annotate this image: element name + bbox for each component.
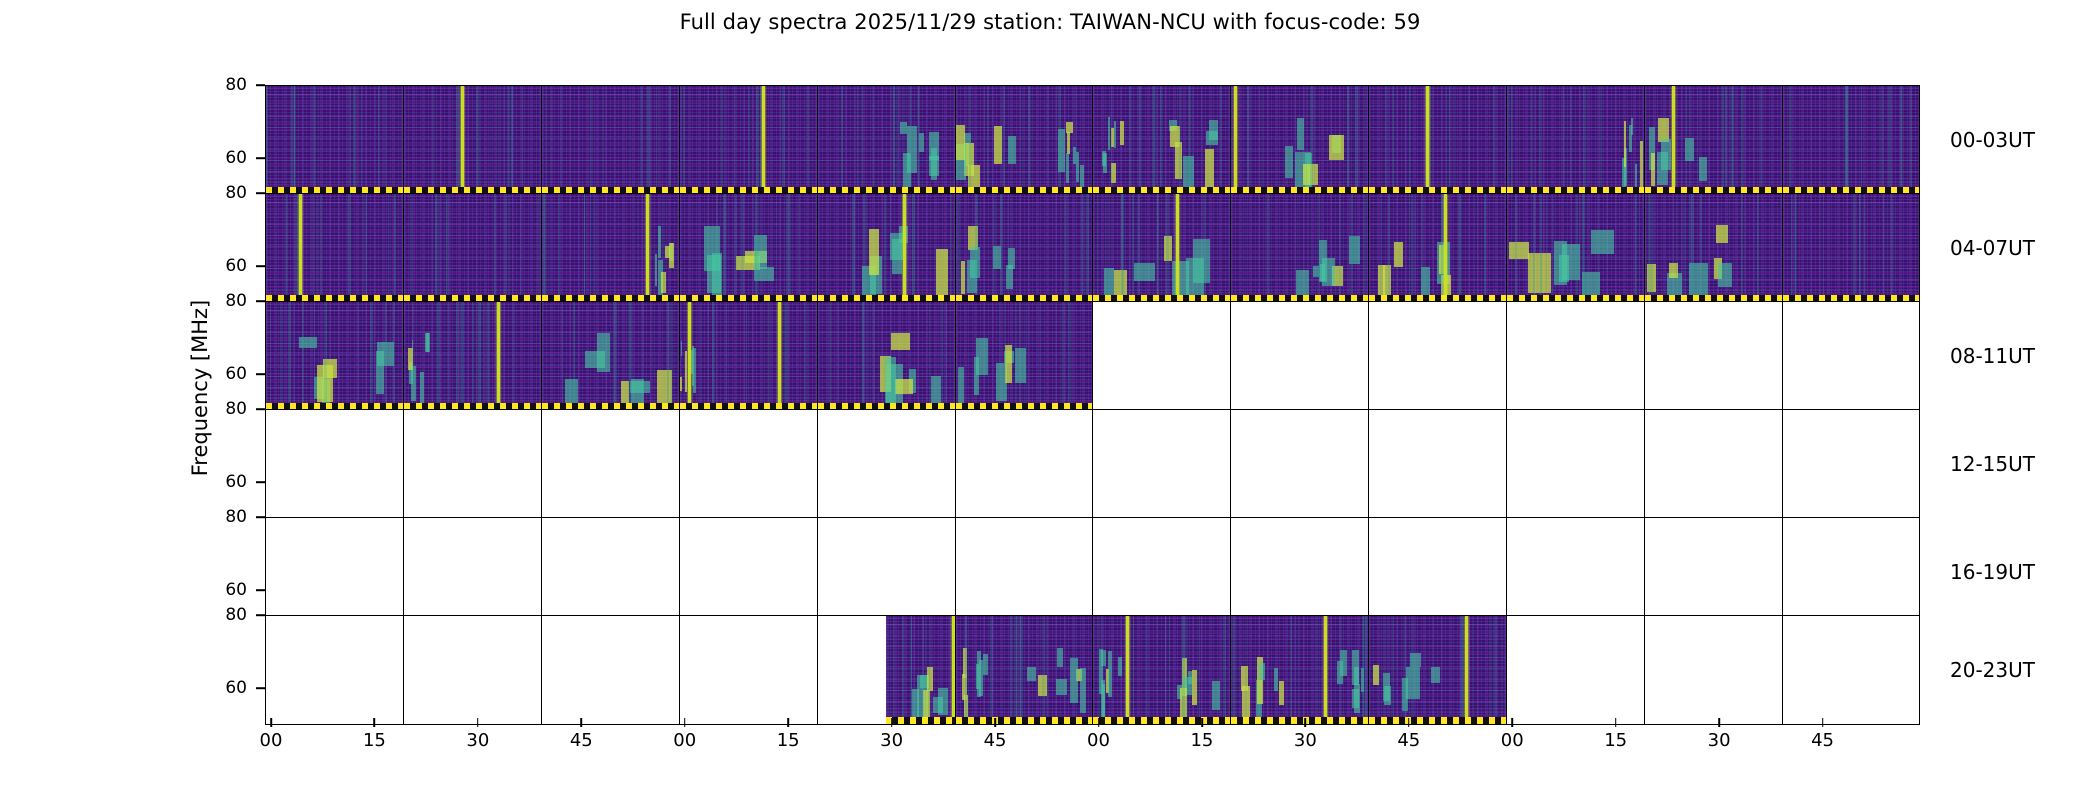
spectral-streak: [776, 194, 777, 302]
spectral-streak: [1182, 616, 1185, 724]
spectrogram-panel[interactable]: [955, 193, 1093, 303]
spectral-streak: [1730, 86, 1731, 194]
spectral-streak: [1405, 86, 1406, 194]
panel-inner: [1093, 616, 1230, 724]
spectrogram-bands: [680, 194, 817, 302]
y-tick-label: 80: [225, 507, 247, 527]
spectral-streak: [1861, 86, 1862, 194]
spectrogram-panel[interactable]: [1092, 85, 1230, 195]
spectrogram-panel[interactable]: [265, 301, 403, 411]
spectrogram-panel[interactable]: [1230, 85, 1368, 195]
spectrogram-panel[interactable]: [1644, 193, 1782, 303]
spectral-burst: [1352, 650, 1360, 685]
spectrogram-panel[interactable]: [817, 409, 955, 519]
spectrogram-panel[interactable]: [541, 193, 679, 303]
spectral-streak: [829, 302, 832, 410]
spectral-streak: [562, 302, 563, 410]
spectrogram-row: [265, 615, 1920, 725]
spectral-streak: [1347, 86, 1349, 194]
panel-inner: [1783, 86, 1919, 194]
spectral-streak: [573, 302, 576, 410]
panel-inner: [1231, 86, 1368, 194]
panel-inner: [818, 302, 955, 410]
spectral-burst: [681, 341, 683, 356]
panel-inner: [1093, 518, 1230, 626]
spectral-streak: [1468, 86, 1470, 194]
panel-inner: [1507, 194, 1644, 302]
bright-emission-line: [1444, 194, 1447, 302]
spectral-streak: [394, 194, 395, 302]
y-tick-label: 60: [225, 678, 247, 698]
spectrogram-panel[interactable]: [1782, 193, 1920, 303]
spectral-streak: [476, 86, 478, 194]
spectrogram-panel[interactable]: [955, 85, 1093, 195]
spectral-streak: [1047, 616, 1048, 724]
spectrogram-panel[interactable]: [955, 615, 1093, 725]
spectral-burst: [933, 697, 943, 712]
y-tick-label: 80: [225, 605, 247, 625]
spectral-streak: [1639, 194, 1641, 302]
spectrogram-panel[interactable]: [1644, 517, 1782, 627]
spectral-streak: [590, 86, 593, 194]
spectrogram-panel[interactable]: [1092, 517, 1230, 627]
spectrogram-panel[interactable]: [541, 615, 679, 725]
spectral-streak: [1058, 86, 1061, 194]
spectral-streak: [1900, 86, 1902, 194]
x-tick-label: 45: [570, 730, 593, 751]
spectral-streak: [1563, 86, 1565, 194]
spectrogram-panel[interactable]: [1230, 301, 1368, 411]
y-tick-label: 80: [225, 399, 247, 419]
panel-inner: [1783, 194, 1919, 302]
spectrogram-image: [1231, 86, 1368, 194]
spectrogram-panel[interactable]: [679, 85, 817, 195]
x-tick-mark: [1201, 718, 1203, 727]
bright-emission-line: [903, 194, 906, 302]
spectral-streak: [1233, 616, 1235, 724]
spectrogram-panel[interactable]: [1368, 615, 1506, 725]
spectral-streak: [1472, 616, 1473, 724]
spectrogram-panel[interactable]: [1782, 409, 1920, 519]
spectrogram-image: [1783, 194, 1919, 302]
spectral-burst: [1108, 651, 1112, 697]
spectral-streak: [1019, 302, 1020, 410]
bright-emission-line: [1465, 616, 1468, 724]
spectral-streak: [1515, 194, 1517, 302]
spectral-streak: [590, 194, 591, 302]
spectral-streak: [741, 194, 744, 302]
spectral-streak: [873, 86, 875, 194]
spectral-streak: [1454, 86, 1457, 194]
spectral-streak: [1314, 86, 1315, 194]
spectrogram-bands: [1783, 86, 1919, 194]
y-tick-label: 60: [225, 472, 247, 492]
spectral-burst: [658, 226, 660, 259]
spectral-streak: [734, 194, 737, 302]
spectrogram-panel[interactable]: [1230, 409, 1368, 519]
spectrogram-panel[interactable]: [541, 517, 679, 627]
spectrogram-bands: [266, 86, 403, 194]
spectrogram-panel[interactable]: [1092, 301, 1230, 411]
spectrogram-image: [818, 194, 955, 302]
spectral-streak: [1086, 194, 1089, 302]
spectral-streak: [513, 302, 515, 410]
spectrogram-panel[interactable]: [679, 301, 817, 411]
spectrogram-panel[interactable]: [679, 517, 817, 627]
y-tick-label: 60: [225, 364, 247, 384]
spectrogram-panel[interactable]: [1368, 193, 1506, 303]
spectrogram-panel[interactable]: [817, 193, 955, 303]
spectrogram-image: [1507, 86, 1644, 194]
spectral-streak: [1864, 194, 1865, 302]
spectrogram-panel[interactable]: [1644, 409, 1782, 519]
spectral-streak: [1022, 86, 1024, 194]
y-tick-mark: [256, 516, 265, 518]
y-tick-group: 8060: [0, 85, 265, 195]
spectral-burst: [919, 133, 924, 152]
spectral-streak: [551, 86, 552, 194]
spectral-streak: [1339, 194, 1341, 302]
spectral-streak: [1411, 616, 1413, 724]
spectral-streak: [1676, 194, 1677, 302]
spectral-streak: [487, 302, 489, 410]
spectral-burst: [1640, 141, 1643, 188]
spectral-streak: [1540, 194, 1543, 302]
spectral-streak: [385, 86, 387, 194]
x-tick-mark: [1408, 718, 1410, 727]
panel-inner: [818, 86, 955, 194]
spectral-burst: [1394, 242, 1403, 267]
spectral-streak: [477, 86, 480, 194]
panel-inner: [1093, 194, 1230, 302]
spectrogram-image: [542, 194, 679, 302]
spectrogram-panel[interactable]: [1644, 615, 1782, 725]
panel-inner: [1783, 616, 1919, 724]
panel-inner: [680, 86, 817, 194]
spectral-burst: [1591, 230, 1614, 254]
spectrogram-image: [818, 86, 955, 194]
spectrogram-panel[interactable]: [265, 193, 403, 303]
spectral-burst: [1651, 153, 1656, 186]
spectrogram-bands: [1645, 194, 1782, 302]
spectrogram-image: [404, 86, 541, 194]
spectral-streak: [1691, 194, 1693, 302]
spectral-burst: [1080, 668, 1086, 713]
spectral-streak: [361, 86, 363, 194]
row-label-00-03ut: 00-03UT: [1950, 128, 2035, 152]
spectral-streak: [358, 302, 359, 410]
spectral-streak: [320, 194, 321, 302]
spectral-streak: [746, 302, 747, 410]
spectral-streak: [867, 302, 868, 410]
spectral-burst: [931, 148, 937, 180]
spectrogram-panel[interactable]: [541, 85, 679, 195]
x-tick-label: 15: [363, 730, 386, 751]
spectrogram-image: [1369, 616, 1506, 724]
spectral-streak: [767, 302, 770, 410]
spectrogram-panel[interactable]: [817, 615, 955, 725]
spectrogram-panel[interactable]: [817, 517, 955, 627]
spectrogram-panel[interactable]: [679, 409, 817, 519]
spectral-burst: [1114, 121, 1116, 148]
spectral-streak: [1409, 86, 1410, 194]
spectral-streak: [1306, 86, 1307, 194]
panel-inner: [1645, 616, 1782, 724]
x-tick-mark: [581, 718, 583, 727]
y-tick-group: 8060: [0, 409, 265, 519]
x-tick-label: 30: [466, 730, 489, 751]
spectral-burst: [1320, 264, 1325, 280]
panel-inner: [542, 86, 679, 194]
spectrogram-panel[interactable]: [679, 193, 817, 303]
spectral-streak: [313, 194, 314, 302]
bright-emission-line: [1426, 86, 1429, 194]
spectral-burst: [1669, 263, 1679, 278]
spectral-streak: [1689, 86, 1690, 194]
spectrogram-panel[interactable]: [1782, 517, 1920, 627]
spectral-streak: [478, 302, 481, 410]
figure-canvas: Full day spectra 2025/11/29 station: TAI…: [0, 0, 2100, 800]
panel-inner: [818, 410, 955, 518]
spectrogram-panel[interactable]: [1644, 85, 1782, 195]
spectral-streak: [1446, 86, 1448, 194]
y-tick-mark: [256, 300, 265, 302]
panel-inner: [956, 518, 1093, 626]
x-tick-label: 15: [1190, 730, 1213, 751]
spectral-streak: [807, 86, 810, 194]
spectrogram-panel[interactable]: [1506, 409, 1644, 519]
spectrogram-panel[interactable]: [265, 615, 403, 725]
panel-inner: [1645, 194, 1782, 302]
spectral-burst: [869, 229, 879, 274]
spectrogram-panel[interactable]: [265, 517, 403, 627]
spectrogram-panel[interactable]: [1368, 85, 1506, 195]
spectrogram-image: [1231, 616, 1368, 724]
spectral-streak: [1732, 86, 1733, 194]
panel-inner: [1645, 302, 1782, 410]
spectral-burst: [1008, 136, 1016, 164]
spectrogram-panel[interactable]: [1506, 85, 1644, 195]
spectral-streak: [637, 194, 638, 302]
spectral-streak: [667, 302, 669, 410]
spectral-streak: [1042, 616, 1045, 724]
spectrogram-panel[interactable]: [1782, 615, 1920, 725]
spectral-burst: [1027, 667, 1036, 681]
spectral-streak: [1002, 194, 1003, 302]
spectrogram-panel[interactable]: [403, 85, 541, 195]
panel-inner: [1645, 410, 1782, 518]
spectral-streak: [348, 194, 351, 302]
spectral-streak: [888, 616, 889, 724]
bright-emission-line: [461, 86, 464, 194]
spectral-burst: [1066, 122, 1073, 134]
spectrogram-image: [818, 302, 955, 410]
x-tick-mark: [270, 718, 272, 727]
spectrogram-panel[interactable]: [817, 85, 955, 195]
spectrogram-panel[interactable]: [1506, 517, 1644, 627]
x-tick-mark: [891, 718, 893, 727]
spectral-burst: [1718, 263, 1732, 287]
y-tick-mark: [256, 408, 265, 410]
panel-inner: [1507, 302, 1644, 410]
spectral-streak: [862, 302, 863, 410]
spectrogram-panel[interactable]: [1368, 301, 1506, 411]
spectral-burst: [1373, 665, 1379, 685]
spectral-streak: [1152, 86, 1155, 194]
y-tick-group: 8060: [0, 615, 265, 725]
spectral-streak: [1065, 194, 1068, 302]
spectral-streak: [1265, 194, 1267, 302]
spectral-streak: [640, 86, 642, 194]
spectral-streak: [629, 86, 631, 194]
panel-inner: [1783, 302, 1919, 410]
spectrogram-bands: [1783, 194, 1919, 302]
spectral-streak: [437, 302, 440, 410]
spectrogram-image: [1093, 194, 1230, 302]
spectral-burst: [1205, 149, 1214, 193]
spectral-burst: [1120, 121, 1123, 145]
spectrogram-panel[interactable]: [403, 409, 541, 519]
spectrogram-panel[interactable]: [955, 301, 1093, 411]
x-tick-label: 30: [880, 730, 903, 751]
x-tick-mark: [477, 718, 479, 727]
spectral-streak: [1352, 194, 1353, 302]
spectral-streak: [1686, 86, 1687, 194]
spectral-streak: [1016, 616, 1019, 724]
spectral-burst: [1111, 163, 1115, 184]
spectral-streak: [1823, 194, 1824, 302]
spectrogram-panel[interactable]: [955, 409, 1093, 519]
spectrogram-image: [266, 194, 403, 302]
panel-inner: [680, 616, 817, 724]
y-tick-mark: [256, 266, 265, 268]
spectral-burst: [685, 351, 687, 392]
spectrogram-panel[interactable]: [1644, 301, 1782, 411]
panel-inner: [542, 194, 679, 302]
spectral-streak: [708, 302, 710, 410]
spectral-streak: [1363, 194, 1366, 302]
spectral-streak: [890, 194, 891, 302]
spectral-burst: [927, 667, 933, 691]
spectral-streak: [324, 302, 326, 410]
spectral-streak: [1380, 194, 1382, 302]
spectral-burst: [680, 377, 682, 391]
spectral-streak: [893, 86, 894, 194]
spectral-streak: [1794, 194, 1797, 302]
panel-inner: [542, 518, 679, 626]
spectrogram-image: [680, 302, 817, 410]
spectral-burst: [1066, 153, 1069, 183]
spectrogram-image: [1093, 86, 1230, 194]
panel-inner: [1369, 518, 1506, 626]
spectrogram-panel[interactable]: [1092, 193, 1230, 303]
spectral-streak: [1859, 194, 1860, 302]
spectral-streak: [723, 194, 726, 302]
y-tick-mark: [256, 192, 265, 194]
spectral-burst: [1329, 135, 1345, 161]
spectrogram-panel[interactable]: [1230, 517, 1368, 627]
spectral-burst: [1067, 132, 1071, 155]
spectral-streak: [270, 302, 271, 410]
spectrogram-image: [266, 86, 403, 194]
spectral-streak: [1570, 86, 1571, 194]
spectrogram-panel[interactable]: [1782, 85, 1920, 195]
spectral-streak: [584, 194, 586, 302]
spectral-streak: [1598, 194, 1599, 302]
x-tick-mark: [994, 718, 996, 727]
spectral-burst: [707, 255, 721, 293]
spectrogram-image: [1645, 86, 1782, 194]
bright-emission-line: [299, 194, 302, 302]
spectrogram-panel[interactable]: [817, 301, 955, 411]
spectrogram-panel[interactable]: [403, 301, 541, 411]
panel-inner: [1369, 302, 1506, 410]
spectrogram-panel[interactable]: [679, 615, 817, 725]
spectral-streak: [987, 86, 988, 194]
spectrogram-panel[interactable]: [265, 409, 403, 519]
spectral-streak: [857, 86, 858, 194]
spectrogram-panel[interactable]: [1368, 517, 1506, 627]
panel-inner: [1507, 616, 1644, 724]
spectrogram-panel[interactable]: [1506, 301, 1644, 411]
spectral-streak: [734, 86, 735, 194]
panel-inner: [1507, 518, 1644, 626]
spectrogram-panel[interactable]: [1230, 615, 1368, 725]
spectral-streak: [1290, 616, 1293, 724]
spectral-burst: [974, 357, 979, 395]
spectral-streak: [1888, 86, 1891, 194]
spectral-streak: [1133, 616, 1134, 724]
spectrogram-panel[interactable]: [1092, 615, 1230, 725]
spectral-streak: [671, 302, 673, 410]
x-axis: 00153045001530450015304500153045: [265, 718, 1920, 758]
spectral-burst: [1554, 241, 1566, 285]
spectral-streak: [1101, 616, 1103, 724]
spectrogram-panel[interactable]: [1230, 193, 1368, 303]
spectrogram-panel[interactable]: [1782, 301, 1920, 411]
spectral-streak: [1539, 86, 1541, 194]
spectral-streak: [456, 302, 458, 410]
spectrogram-panel[interactable]: [403, 615, 541, 725]
bright-emission-line: [497, 302, 500, 410]
spectrogram-panel[interactable]: [265, 85, 403, 195]
spectral-streak: [652, 302, 654, 410]
spectrogram-panel[interactable]: [955, 517, 1093, 627]
spectrogram-panel[interactable]: [403, 517, 541, 627]
spectral-streak: [838, 302, 839, 410]
spectral-streak: [656, 86, 657, 194]
spectral-streak: [1789, 86, 1791, 194]
spectrogram-image: [886, 616, 954, 724]
spectrogram-panel[interactable]: [1092, 409, 1230, 519]
spectrogram-panel[interactable]: [1506, 615, 1644, 725]
spectrogram-panel[interactable]: [541, 409, 679, 519]
panel-inner: [1369, 410, 1506, 518]
spectrogram-panel[interactable]: [1506, 193, 1644, 303]
spectrogram-panel[interactable]: [403, 193, 541, 303]
spectral-streak: [852, 194, 855, 302]
spectrogram-panel[interactable]: [1368, 409, 1506, 519]
spectrogram-panel[interactable]: [541, 301, 679, 411]
spectral-streak: [1081, 194, 1083, 302]
panel-inner: [542, 616, 679, 724]
panel-inner: [1645, 518, 1782, 626]
spectral-burst: [1274, 668, 1278, 691]
spectral-streak: [1179, 86, 1181, 194]
panel-inner: [1369, 616, 1506, 724]
spectral-streak: [799, 194, 800, 302]
x-tick-label: 45: [1397, 730, 1420, 751]
